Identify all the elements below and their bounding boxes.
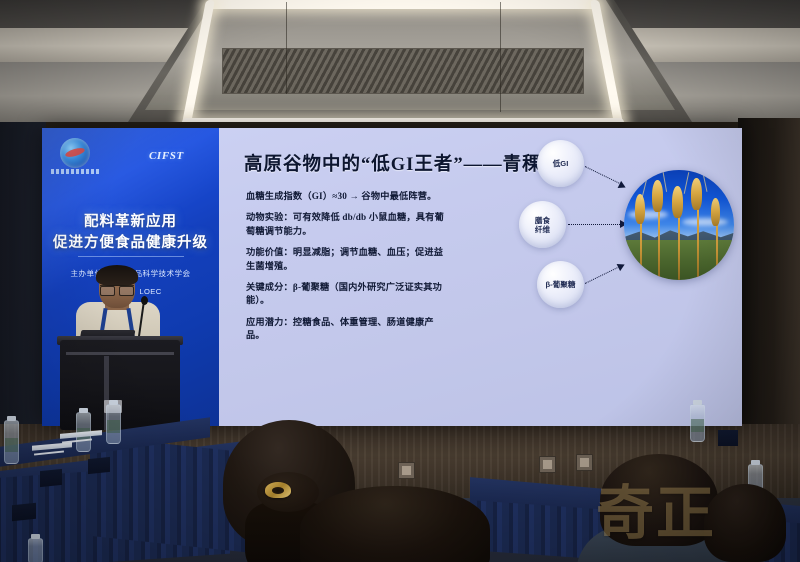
- banner-divider: [78, 256, 184, 257]
- wall-socket-mid: [398, 462, 415, 479]
- feature-bubble-low-gi: 低GI: [537, 140, 584, 187]
- slide-paragraph: 血糖生成指数（GI）≈30 → 谷物中最低阵营。: [246, 190, 446, 203]
- led-strip-top: [206, 0, 598, 9]
- barley-ear: [652, 180, 663, 212]
- microphone-head-icon: [141, 296, 148, 305]
- barley-field-photo: [624, 170, 734, 280]
- bottle-label: [107, 420, 120, 433]
- barley-ear: [635, 194, 645, 224]
- ceiling-wire-right: [500, 2, 501, 112]
- slide-body-text: 血糖生成指数（GI）≈30 → 谷物中最低阵营。 动物实验：可有效降低 db/d…: [246, 190, 446, 351]
- feature-bubble-beta-glucan: β-葡聚糖: [537, 261, 584, 308]
- arrow-line-bottom: [585, 266, 620, 284]
- right-wall-panel: [738, 118, 800, 436]
- bottle-label: [5, 438, 18, 452]
- hair-clip-icon: [265, 482, 291, 498]
- water-bottle: [4, 420, 19, 464]
- ceiling: [0, 0, 800, 130]
- attendee-head: [600, 454, 718, 546]
- water-bottle: [28, 538, 43, 562]
- water-bottle: [106, 404, 121, 444]
- banner-title-line2: 促进方便食品健康升级: [42, 231, 219, 252]
- bottle-cap: [751, 460, 760, 465]
- bottle-cap: [79, 408, 88, 413]
- slide-paragraph: 动物实验：可有效降低 db/db 小鼠血糖，具有葡萄糖调节能力。: [246, 211, 446, 238]
- ceiling-wire-left: [286, 2, 287, 94]
- attendee-head: [300, 486, 490, 562]
- wall-socket-right: [539, 456, 556, 473]
- attendee-foreground-center: [300, 486, 490, 562]
- slide-paragraph: 关键成分：β-葡聚糖（国内外研究广泛证实其功能）。: [246, 281, 446, 308]
- feature-bubble-label: 膳食 纤维: [535, 216, 550, 234]
- attendee-foreground-right: [600, 454, 750, 562]
- left-wall-panel: [0, 122, 46, 432]
- cifst-circular-logo-icon: [60, 138, 90, 168]
- presenter-hair: [96, 265, 138, 286]
- arrow-line-top: [585, 166, 620, 184]
- slide-title: 高原谷物中的“低GI王者”——青稞: [244, 150, 542, 176]
- cifst-logo-subtext-icon: [51, 169, 99, 174]
- bottle-cap: [31, 534, 40, 539]
- photo-cloud: [628, 210, 668, 219]
- podium-edge-highlight: [66, 352, 174, 355]
- photo-cloud: [682, 218, 728, 226]
- attendee-head-secondary: [704, 484, 786, 562]
- name-card: [12, 503, 36, 522]
- bottle-cap: [109, 400, 118, 405]
- bottle-cap: [693, 400, 702, 405]
- name-card: [88, 457, 110, 474]
- bottle-cap: [7, 416, 16, 421]
- name-card: [40, 469, 62, 487]
- banner-title-line1: 配料革新应用: [42, 210, 219, 231]
- barley-ear: [691, 178, 702, 210]
- feature-bubble-label: 低GI: [553, 159, 569, 168]
- water-bottle: [690, 404, 705, 442]
- feature-bubble-dietary-fiber: 膳食 纤维: [519, 201, 566, 248]
- glasses-icon: [100, 285, 134, 294]
- name-card: [718, 430, 738, 446]
- slide-paragraph: 功能价值：明显减脂；调节血糖、血压；促进益生菌增殖。: [246, 246, 446, 273]
- hvac-grille-icon: [222, 48, 584, 94]
- feature-bubble-label: β-葡聚糖: [546, 280, 576, 289]
- cifst-acronym: CIFST: [149, 150, 184, 162]
- arrow-line-mid: [568, 224, 622, 225]
- conference-photo: CIFST 配料革新应用 促进方便食品健康升级 主办单位：中国食品科学技术学会 …: [0, 0, 800, 562]
- presentation-slide: 高原谷物中的“低GI王者”——青稞 血糖生成指数（GI）≈30 → 谷物中最低阵…: [219, 128, 742, 426]
- wall-socket-far-right: [576, 454, 593, 471]
- barley-ear: [711, 198, 720, 226]
- barley-ear: [672, 186, 683, 218]
- slide-paragraph: 应用潜力：控糖食品、体重管理、肠道健康产品。: [246, 316, 446, 343]
- bottle-label: [691, 419, 704, 431]
